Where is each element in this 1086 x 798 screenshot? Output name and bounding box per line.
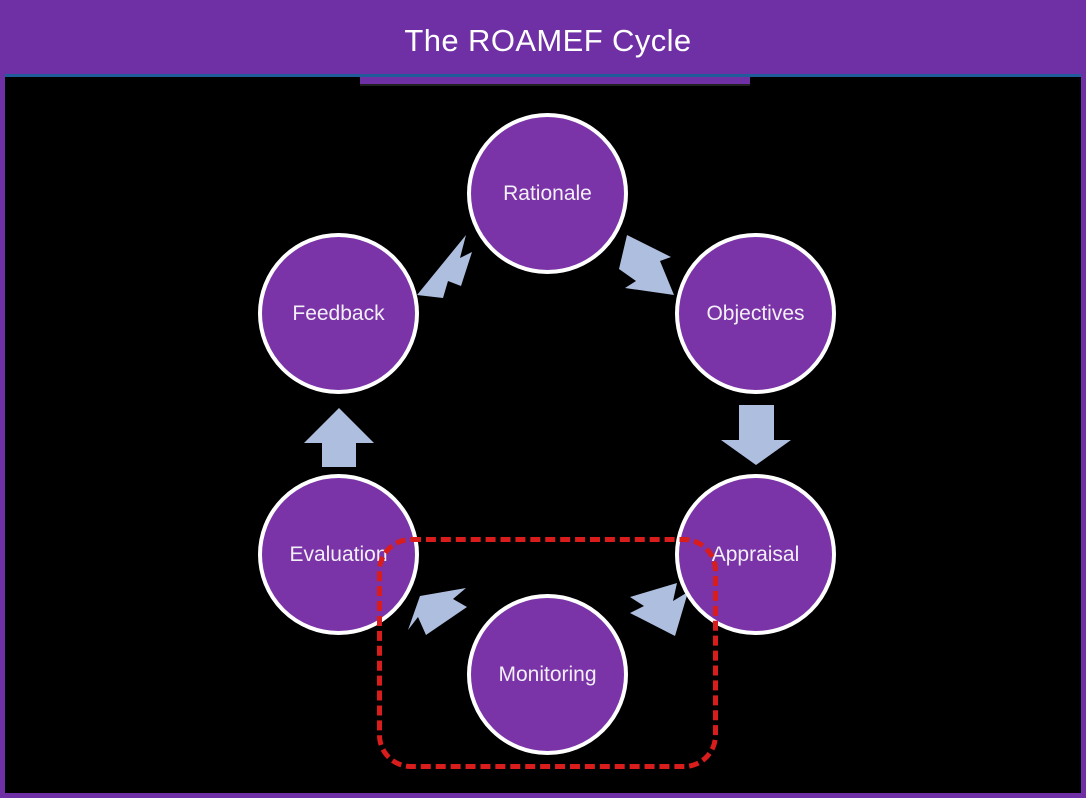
arrow-rationale-to-objectives xyxy=(619,235,674,295)
arrow-evaluation-to-feedback xyxy=(304,408,374,467)
cycle-node-label: Monitoring xyxy=(498,663,596,687)
cycle-node-monitoring[interactable]: Monitoring xyxy=(467,594,628,755)
cycle-node-label: Objectives xyxy=(706,302,804,326)
arrow-feedback-to-rationale xyxy=(417,235,472,298)
cycle-node-label: Feedback xyxy=(292,302,384,326)
title-bar-tab xyxy=(360,77,750,86)
cycle-node-rationale[interactable]: Rationale xyxy=(467,113,628,274)
page-title: The ROAMEF Cycle xyxy=(5,5,1086,77)
cycle-node-feedback[interactable]: Feedback xyxy=(258,233,419,394)
cycle-node-label: Evaluation xyxy=(289,543,387,567)
cycle-node-label: Rationale xyxy=(503,182,592,206)
cycle-node-label: Appraisal xyxy=(712,543,800,567)
slide-canvas: The ROAMEF Cycle Rationale Objectives Ap… xyxy=(0,0,1086,798)
arrow-objectives-to-appraisal xyxy=(721,405,791,465)
cycle-node-objectives[interactable]: Objectives xyxy=(675,233,836,394)
